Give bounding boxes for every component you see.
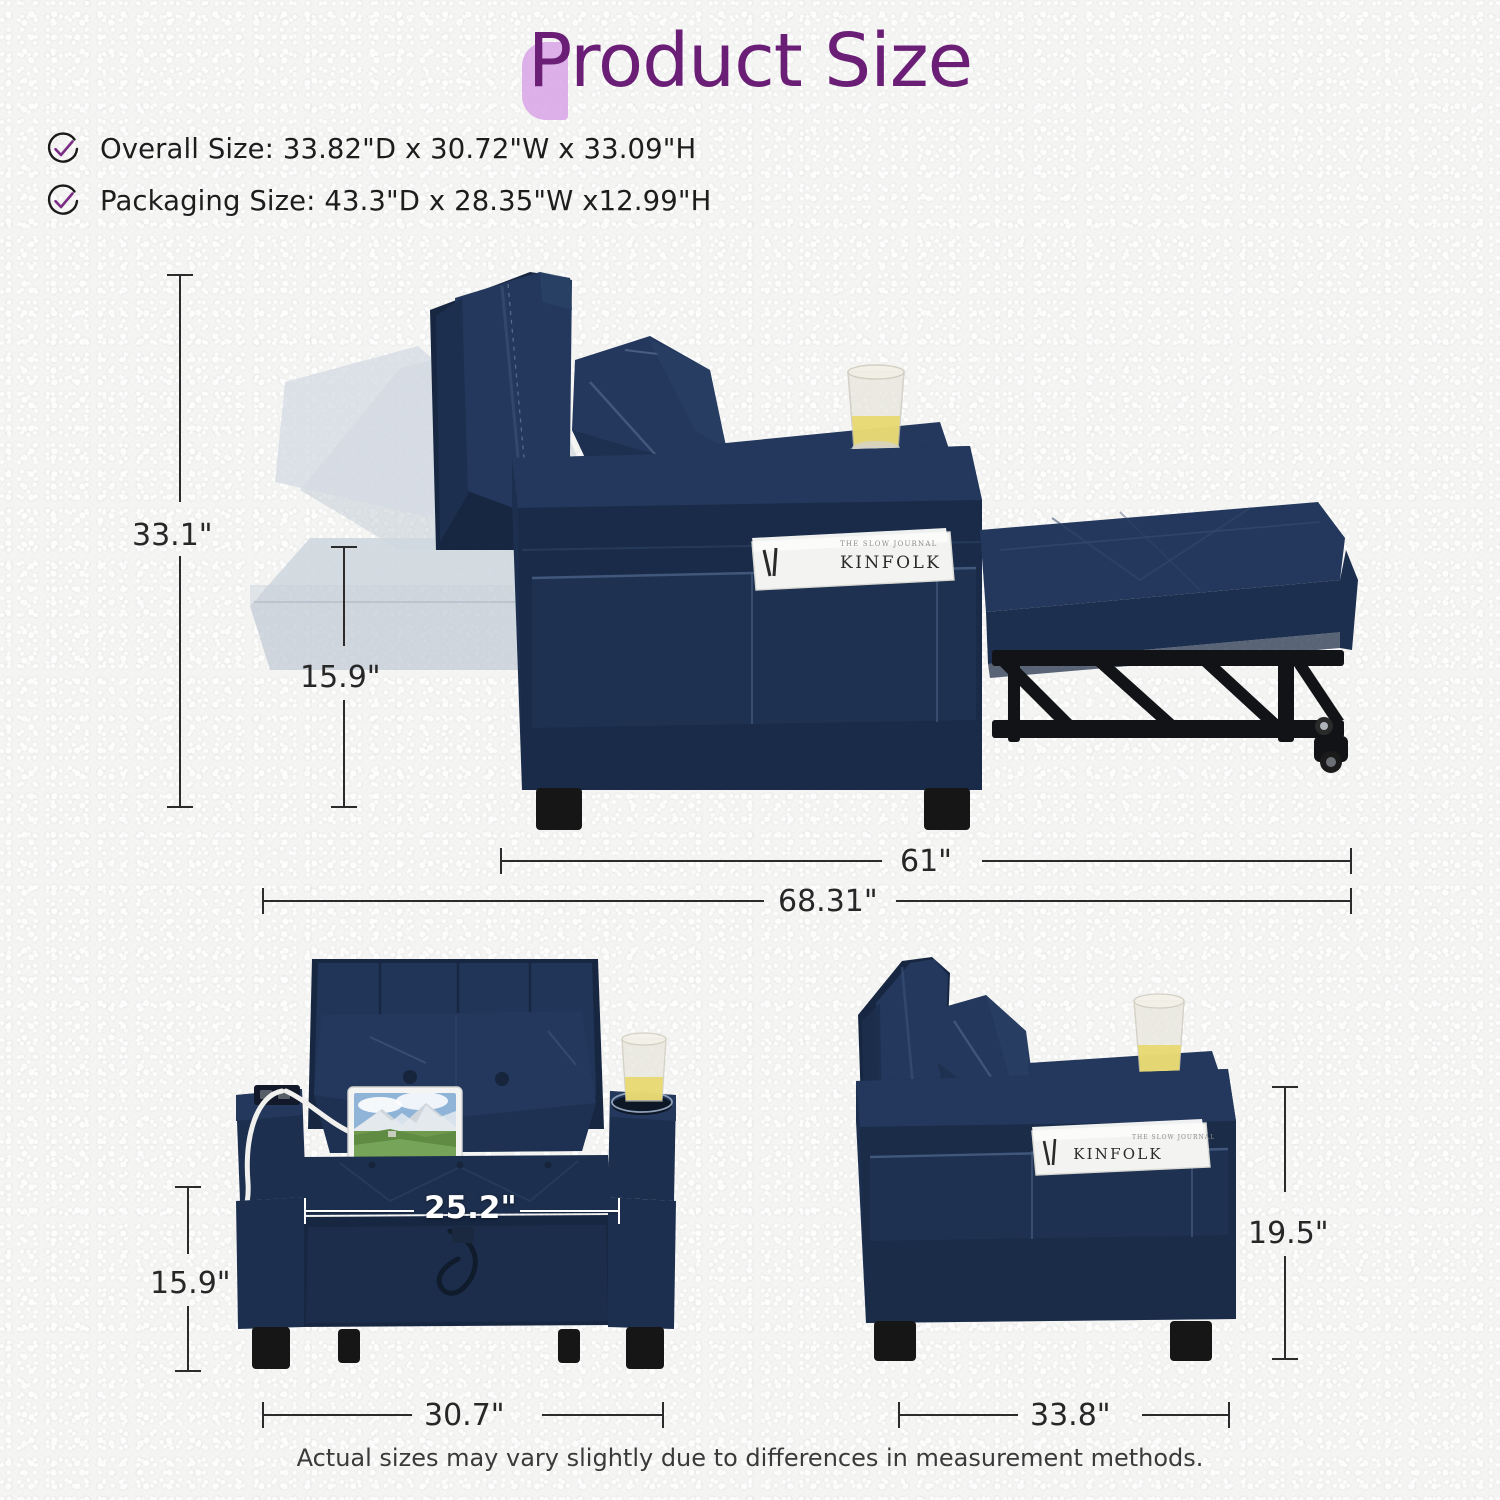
svg-text:THE SLOW JOURNAL: THE SLOW JOURNAL [840, 540, 937, 548]
chair-side-view: KINFOLK THE SLOW JOURNAL [840, 945, 1260, 1395]
dimension-label-seat-height: 15.9" [300, 660, 381, 695]
chair-front-view [230, 945, 700, 1395]
chair-leg [626, 1327, 664, 1369]
spec-item-label: Overall Size: 33.82"D x 30.72"W x 33.09"… [100, 133, 696, 165]
chair-leg [252, 1327, 290, 1369]
drink-glass [848, 365, 904, 455]
page-title-container: Product Size [0, 18, 1500, 104]
page-title: Product Size [528, 18, 972, 104]
armrest-right [608, 1091, 676, 1201]
side-pocket [532, 568, 976, 728]
svg-text:THE SLOW JOURNAL: THE SLOW JOURNAL [1132, 1134, 1215, 1141]
check-circle-icon [44, 182, 82, 220]
chair-leg [1170, 1321, 1212, 1361]
magazine-title: KINFOLK [840, 553, 942, 573]
dimension-label-arm-height: 19.5" [1248, 1216, 1329, 1251]
spec-item-packaging-size: Packaging Size: 43.3"D x 28.35"W x12.99"… [44, 182, 711, 220]
dimension-label-total-length: 68.31" [778, 884, 878, 919]
tablet-screen-image [354, 1092, 456, 1159]
drink-glass [622, 1033, 666, 1101]
magazine-title: KINFOLK [1073, 1145, 1163, 1163]
dimension-label-seat-height-front: 15.9" [150, 1266, 231, 1301]
magazine: KINFOLK THE SLOW JOURNAL [1032, 1119, 1215, 1175]
chair-leg [536, 788, 582, 830]
magazine: KINFOLK THE SLOW JOURNAL [752, 528, 954, 590]
page-title-text: Product Size [528, 18, 972, 104]
dimension-label-height-total: 33.1" [132, 518, 213, 553]
dimension-label-seat-width: 25.2" [424, 1190, 517, 1226]
caster-wheel [558, 1329, 580, 1363]
dimension-label-overall-width: 30.7" [424, 1398, 505, 1433]
sofa-bed-extended-side-view: KINFOLK THE SLOW JOURNAL [240, 250, 1370, 830]
caster-wheel [338, 1329, 360, 1363]
pull-out-drawer [300, 1215, 614, 1327]
tablet-device [348, 1087, 462, 1165]
spec-list: Overall Size: 33.82"D x 30.72"W x 33.09"… [44, 130, 711, 234]
dimension-label-overall-depth: 33.8" [1030, 1398, 1111, 1433]
spec-item-label: Packaging Size: 43.3"D x 28.35"W x12.99"… [100, 185, 711, 217]
disclaimer-text: Actual sizes may vary slightly due to di… [0, 1444, 1500, 1472]
check-circle-icon [44, 130, 82, 168]
drink-glass [1134, 994, 1184, 1073]
spec-item-overall-size: Overall Size: 33.82"D x 30.72"W x 33.09"… [44, 130, 711, 168]
dimension-label-bed-length: 61" [900, 844, 952, 879]
seat-body-side: KINFOLK THE SLOW JOURNAL [856, 1069, 1236, 1361]
seat-body: KINFOLK THE SLOW JOURNAL [512, 446, 982, 830]
chair-leg [874, 1321, 916, 1361]
chair-leg [924, 788, 970, 830]
